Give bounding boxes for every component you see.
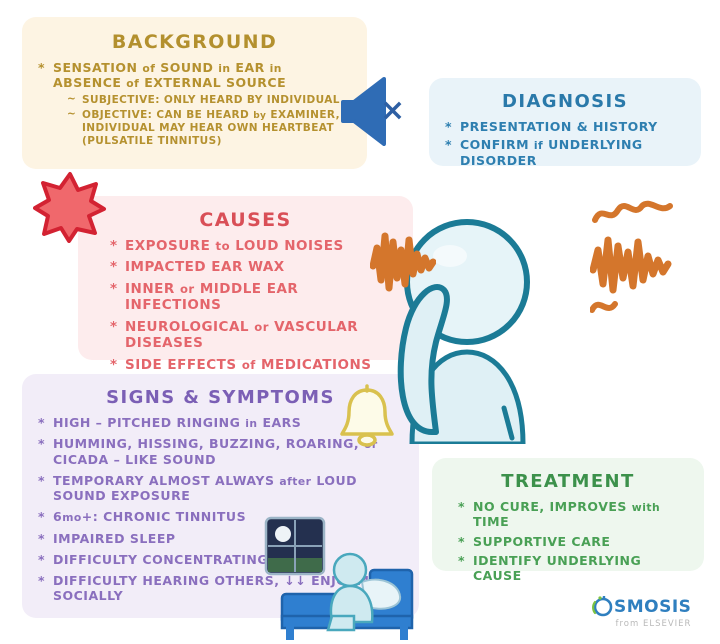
bullet-text: IMPACTED EAR WAX — [125, 259, 285, 275]
osmosis-wordmark: SMOSIS — [614, 599, 691, 616]
bullet-marker: * — [458, 499, 465, 514]
person-sitting-on-bed-at-night-illustration — [258, 512, 428, 644]
treatment-bullet-list: *NO CURE, IMPROVES with TIME*SUPPORTIVE … — [458, 499, 688, 583]
person-hand-to-ear-illustration — [392, 186, 542, 448]
bullet-text: 6mo+: CHRONIC TINNITUS — [53, 509, 246, 524]
no-external-source-x-icon: × — [380, 96, 405, 126]
bullet-item: *SUPPORTIVE CARE — [458, 534, 688, 549]
bullet-text: HIGH – PITCHED RINGING in EARS — [53, 415, 301, 430]
bullet-text: PRESENTATION & HISTORY — [460, 119, 658, 134]
soundwave-icon — [370, 228, 436, 302]
bullet-marker: * — [38, 473, 45, 488]
bullet-text: SENSATION of SOUND in EAR in ABSENCE of … — [53, 60, 286, 90]
background-bullet-list: *SENSATION of SOUND in EAR in ABSENCE of… — [38, 60, 351, 147]
sub-bullet-marker: ~ — [67, 108, 76, 121]
bullet-text: NO CURE, IMPROVES with TIME — [473, 499, 660, 529]
sub-bullet-marker: ~ — [67, 93, 76, 106]
sub-bullet-list: ~SUBJECTIVE: ONLY HEARD BY INDIVIDUAL~OB… — [67, 94, 351, 148]
bullet-marker: * — [110, 238, 118, 254]
bullet-marker: * — [445, 137, 452, 152]
bullet-marker: * — [445, 119, 452, 134]
bullet-marker: * — [38, 436, 45, 451]
causes-title: CAUSES — [96, 209, 395, 231]
bullet-marker: * — [38, 552, 45, 567]
bullet-item: *INNER or MIDDLE EAR INFECTIONS — [110, 281, 395, 314]
osmosis-logo: SMOSIS from ELSEVIER — [592, 596, 691, 629]
bullet-text: IDENTIFY UNDERLYING CAUSE — [473, 553, 641, 583]
sub-bullet-text: OBJECTIVE: CAN BE HEARD by EXAMINER, IND… — [82, 109, 340, 146]
sub-bullet-text: SUBJECTIVE: ONLY HEARD BY INDIVIDUAL — [82, 94, 340, 106]
infographic-canvas: BACKGROUND *SENSATION of SOUND in EAR in… — [0, 0, 720, 644]
bullet-marker: * — [110, 281, 118, 297]
diagnosis-title: DIAGNOSIS — [445, 91, 685, 112]
osmosis-subtitle: from ELSEVIER — [592, 619, 691, 629]
bullet-marker: * — [38, 531, 45, 546]
bullet-item: *SIDE EFFECTS of MEDICATIONS — [110, 357, 395, 373]
bullet-text: NEUROLOGICAL or VASCULAR DISEASES — [125, 319, 358, 351]
soundwave-icon — [590, 198, 702, 332]
diagnosis-section: DIAGNOSIS *PRESENTATION & HISTORY*CONFIR… — [429, 78, 701, 166]
bullet-text: IMPAIRED SLEEP — [53, 531, 176, 546]
bullet-item: *EXPOSURE to LOUD NOISES — [110, 238, 395, 254]
bullet-item: *CONFIRM if UNDERLYING DISORDER — [445, 137, 685, 168]
treatment-title: TREATMENT — [448, 471, 688, 492]
bullet-marker: * — [38, 573, 45, 588]
bullet-item: *PRESENTATION & HISTORY — [445, 119, 685, 134]
bullet-marker: * — [458, 553, 465, 568]
bullet-marker: * — [38, 415, 45, 430]
bullet-item: *IDENTIFY UNDERLYING CAUSE — [458, 553, 688, 584]
bullet-item: *IMPACTED EAR WAX — [110, 259, 395, 275]
causes-bullet-list: *EXPOSURE to LOUD NOISES*IMPACTED EAR WA… — [110, 238, 395, 373]
bullet-text: CONFIRM if UNDERLYING DISORDER — [460, 137, 643, 167]
bullet-text: INNER or MIDDLE EAR INFECTIONS — [125, 281, 298, 313]
bullet-item: *NO CURE, IMPROVES with TIME — [458, 499, 688, 530]
bullet-marker: * — [458, 534, 465, 549]
background-section: BACKGROUND *SENSATION of SOUND in EAR in… — [22, 17, 367, 169]
bullet-item: *TEMPORARY ALMOST ALWAYS after LOUD SOUN… — [38, 473, 403, 504]
bullet-text: DIFFICULTY CONCENTRATING — [53, 552, 268, 567]
bullet-marker: * — [110, 259, 118, 275]
bullet-marker: * — [110, 319, 118, 335]
star-burst-icon — [33, 171, 107, 247]
bell-icon — [336, 382, 398, 452]
osmosis-ring-icon — [592, 596, 614, 618]
bullet-text: SIDE EFFECTS of MEDICATIONS — [125, 357, 371, 373]
causes-section: CAUSES *EXPOSURE to LOUD NOISES*IMPACTED… — [78, 196, 413, 360]
bullet-item: *NEUROLOGICAL or VASCULAR DISEASES — [110, 319, 395, 352]
sub-bullet-item: ~SUBJECTIVE: ONLY HEARD BY INDIVIDUAL — [67, 94, 351, 107]
bullet-marker: * — [38, 509, 45, 524]
bullet-marker: * — [110, 357, 118, 373]
bullet-text: TEMPORARY ALMOST ALWAYS after LOUD SOUND… — [53, 473, 357, 503]
bullet-marker: * — [38, 60, 45, 75]
background-title: BACKGROUND — [38, 31, 351, 53]
bullet-item: *SENSATION of SOUND in EAR in ABSENCE of… — [38, 60, 351, 147]
bullet-text: HUMMING, HISSING, BUZZING, ROARING, or C… — [53, 436, 378, 466]
diagnosis-bullet-list: *PRESENTATION & HISTORY*CONFIRM if UNDER… — [445, 119, 685, 168]
treatment-section: TREATMENT *NO CURE, IMPROVES with TIME*S… — [432, 458, 704, 571]
bullet-text: SUPPORTIVE CARE — [473, 534, 610, 549]
sub-bullet-item: ~OBJECTIVE: CAN BE HEARD by EXAMINER, IN… — [67, 109, 351, 147]
bullet-text: EXPOSURE to LOUD NOISES — [125, 238, 344, 254]
